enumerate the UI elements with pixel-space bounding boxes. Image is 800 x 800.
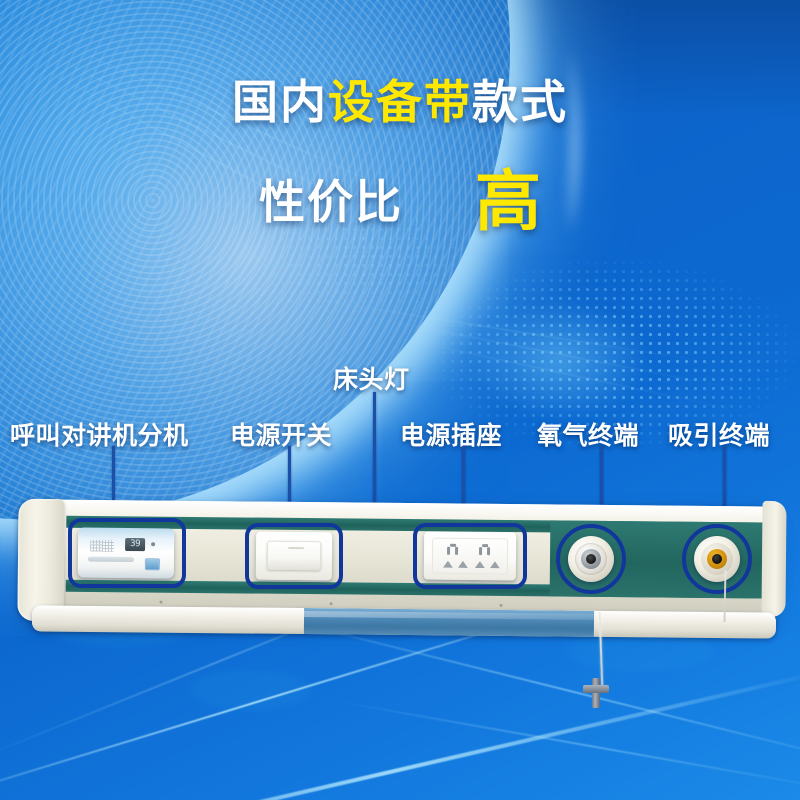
callout-label-oxygen-terminal: 氧气终端 — [537, 416, 639, 452]
headline-line2-text: 性价比 — [259, 176, 403, 228]
panel-rail-blue-section — [304, 608, 594, 637]
headline-line1-highlight: 设备带 — [328, 76, 472, 128]
highlight-box-intercom — [68, 518, 186, 588]
panel-screw — [500, 604, 503, 607]
headline-block: 国内设备带款式 性价比高 — [0, 78, 800, 244]
pull-cord-weight[interactable] — [583, 678, 609, 708]
callout-label-suction-terminal: 吸引终端 — [668, 416, 770, 452]
panel-screw — [330, 602, 333, 605]
callout-label-power-switch: 电源开关 — [230, 416, 332, 452]
headline-line-1: 国内设备带款式 — [0, 78, 800, 126]
callout-label-power-socket: 电源插座 — [400, 416, 502, 452]
light-streak — [0, 669, 800, 800]
highlight-circle-oxygen-terminal — [556, 524, 626, 594]
light-streak — [334, 700, 800, 792]
product-banner: 国内设备带款式 性价比高 呼叫对讲机分机 电源开关 床头灯 电源插座 氧气终端 … — [0, 0, 800, 800]
callout-label-bed-lamp: 床头灯 — [333, 360, 410, 396]
highlight-box-power-switch — [245, 523, 343, 589]
highlight-circle-suction-terminal — [682, 524, 752, 594]
panel-screw — [160, 601, 163, 604]
panel-end-cap-right — [761, 501, 786, 617]
panel-end-cap-left — [17, 499, 64, 621]
headline-line1-part1: 国内 — [232, 76, 328, 128]
light-streak-thin — [364, 330, 755, 414]
headline-line2-emphasis: 高 — [475, 164, 541, 238]
highlight-box-power-socket — [413, 523, 527, 589]
callout-label-intercom: 呼叫对讲机分机 — [10, 416, 189, 452]
headline-line-2: 性价比高 — [0, 148, 800, 244]
headline-line1-part2: 款式 — [472, 76, 568, 128]
